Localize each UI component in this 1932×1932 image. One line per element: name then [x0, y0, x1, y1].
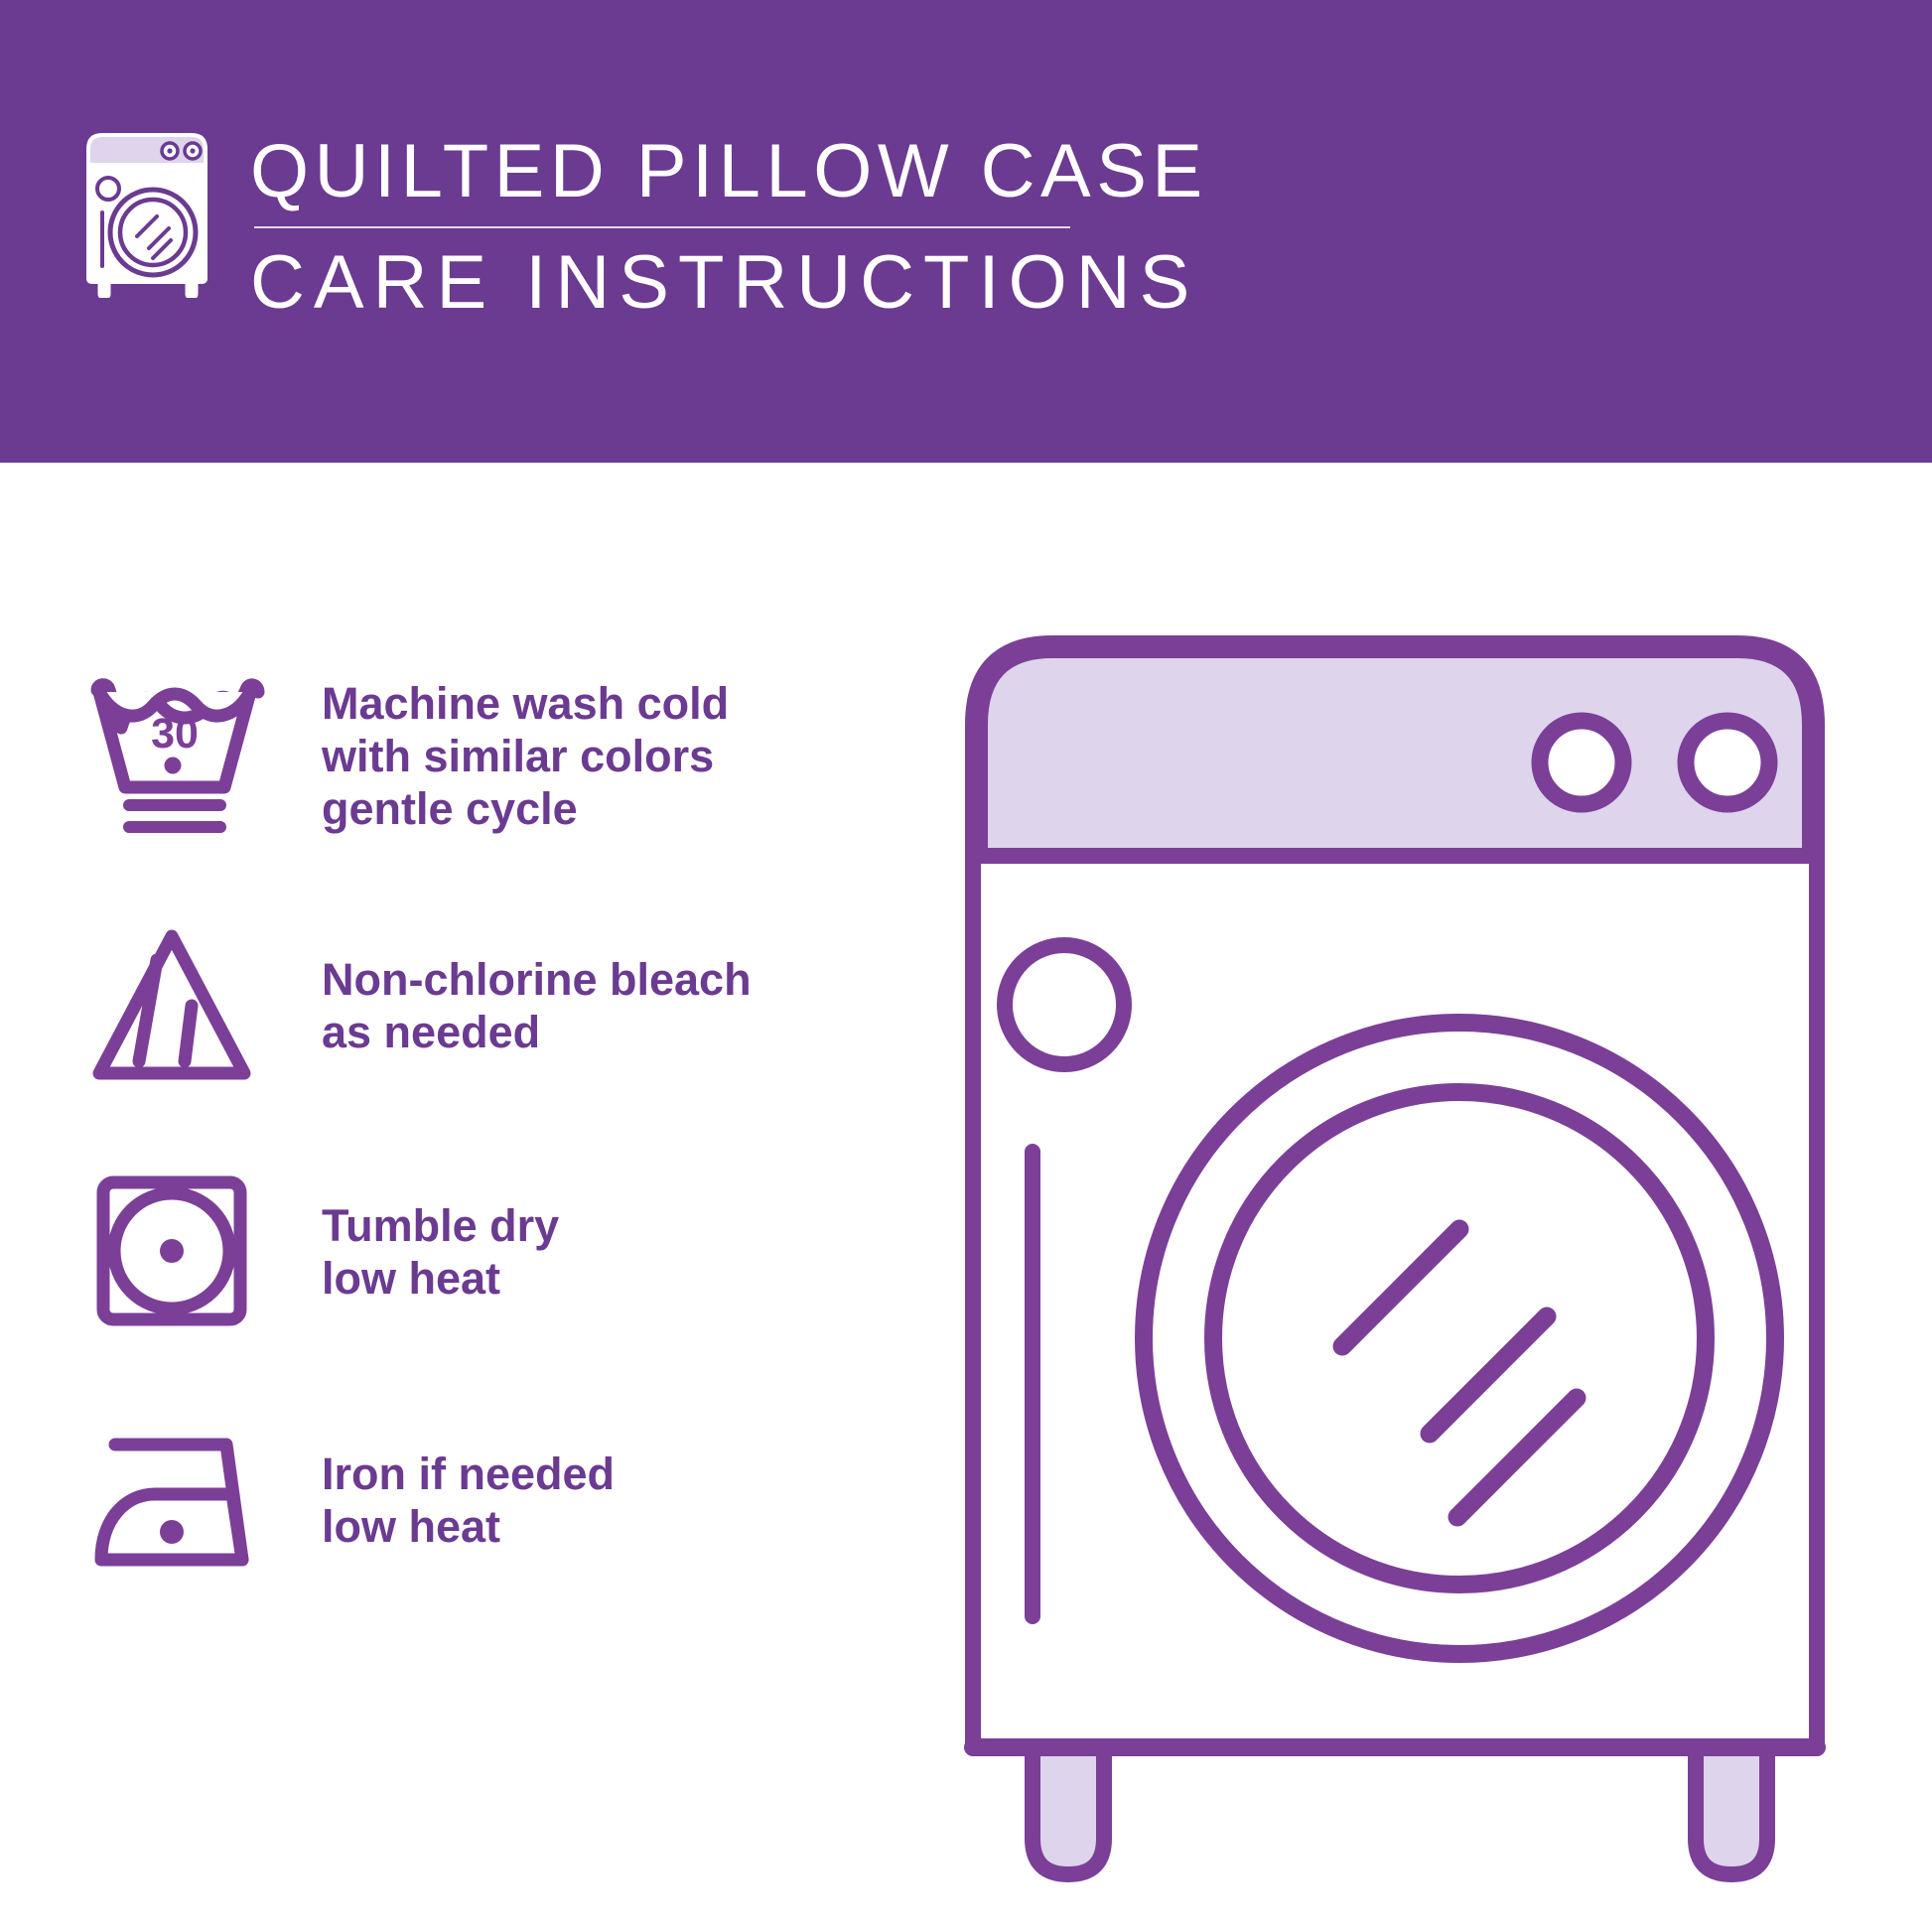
page-title: QUILTED PILLOW CASE: [250, 131, 1208, 212]
title-divider: [254, 226, 1070, 228]
control-knob-right: [1686, 721, 1769, 804]
control-knob-left: [1540, 721, 1623, 804]
iron-low-heat-icon: [77, 1406, 266, 1594]
list-item: Non-chlorine bleach as needed: [77, 911, 752, 1100]
tumble-dry-low-heat-icon: [77, 1158, 266, 1346]
list-item: Tumble dry low heat: [77, 1158, 559, 1346]
list-item-label: Machine wash cold with similar colors ge…: [322, 677, 729, 835]
washing-machine-icon: [77, 127, 216, 298]
machine-leg-right: [1696, 1747, 1767, 1874]
list-item-label: Non-chlorine bleach as needed: [322, 953, 752, 1058]
list-item: 30 Machine wash cold with similar colors…: [77, 661, 729, 850]
header-content: QUILTED PILLOW CASE CARE INSTRUCTIONS: [77, 127, 1208, 324]
list-item: Iron if needed low heat: [77, 1406, 615, 1594]
page-header: QUILTED PILLOW CASE CARE INSTRUCTIONS: [0, 0, 1932, 463]
wash-temperature-label: 30: [151, 710, 199, 758]
list-item-label: Tumble dry low heat: [322, 1199, 559, 1305]
machine-wash-basin-icon: 30: [77, 661, 266, 850]
machine-leg-left: [1033, 1747, 1104, 1874]
non-chlorine-bleach-triangle-icon: [77, 911, 266, 1100]
front-load-washing-machine-illustration: [953, 596, 1906, 1906]
list-item-label: Iron if needed low heat: [322, 1448, 615, 1553]
page-subtitle: CARE INSTRUCTIONS: [250, 242, 1208, 324]
care-instruction-list: 30 Machine wash cold with similar colors…: [0, 463, 953, 1932]
care-instructions-page: QUILTED PILLOW CASE CARE INSTRUCTIONS: [0, 0, 1932, 1932]
header-title-block: QUILTED PILLOW CASE CARE INSTRUCTIONS: [250, 127, 1208, 324]
